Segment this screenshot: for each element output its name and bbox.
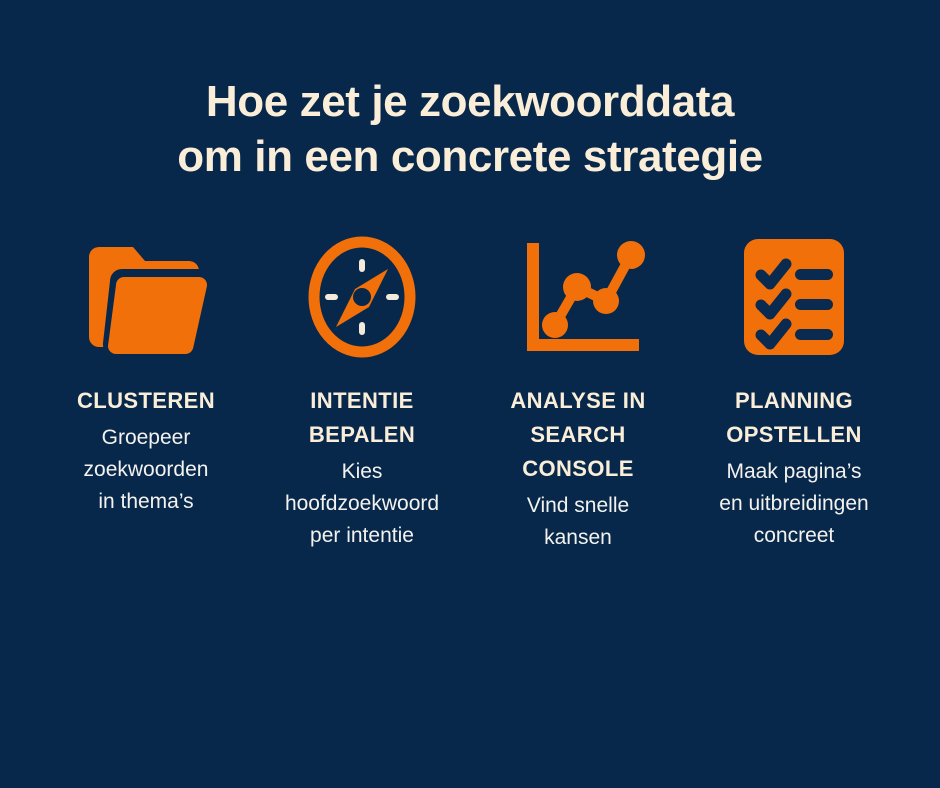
step-body: Maak pagina’s en uitbreidingen concreet bbox=[719, 456, 868, 552]
heading-line: PLANNING bbox=[726, 384, 862, 418]
compass-icon bbox=[306, 232, 418, 362]
step-column-analyse-search-console: ANALYSE IN SEARCH CONSOLE Vind snelle ka… bbox=[470, 232, 686, 554]
title-line-2: om in een concrete strategie bbox=[0, 129, 940, 184]
page-title: Hoe zet je zoekwoorddata om in een concr… bbox=[0, 74, 940, 184]
heading-line: INTENTIE bbox=[309, 384, 415, 418]
heading-line: CLUSTEREN bbox=[77, 384, 215, 418]
body-line: per intentie bbox=[285, 520, 439, 552]
body-line: hoofdzoekwoord bbox=[285, 488, 439, 520]
step-column-planning-opstellen: PLANNING OPSTELLEN Maak pagina’s en uitb… bbox=[686, 232, 902, 552]
step-heading: CLUSTEREN bbox=[77, 384, 215, 418]
folders-icon bbox=[79, 232, 213, 362]
step-heading: PLANNING OPSTELLEN bbox=[726, 384, 862, 452]
heading-line: BEPALEN bbox=[309, 418, 415, 452]
step-heading: ANALYSE IN SEARCH CONSOLE bbox=[510, 384, 645, 486]
body-line: zoekwoorden bbox=[84, 454, 209, 486]
infographic-canvas: Hoe zet je zoekwoorddata om in een concr… bbox=[0, 0, 940, 788]
step-column-clusteren: CLUSTEREN Groepeer zoekwoorden in thema’… bbox=[38, 232, 254, 518]
checklist-icon bbox=[737, 232, 851, 362]
heading-line: CONSOLE bbox=[510, 452, 645, 486]
body-line: in thema’s bbox=[84, 486, 209, 518]
body-line: kansen bbox=[527, 522, 629, 554]
body-line: Kies bbox=[285, 456, 439, 488]
step-body: Vind snelle kansen bbox=[527, 490, 629, 554]
step-body: Groepeer zoekwoorden in thema’s bbox=[84, 422, 209, 518]
title-line-1: Hoe zet je zoekwoorddata bbox=[0, 74, 940, 129]
body-line: en uitbreidingen bbox=[719, 488, 868, 520]
step-column-intentie-bepalen: INTENTIE BEPALEN Kies hoofdzoekwoord per… bbox=[254, 232, 470, 552]
line-chart-icon bbox=[511, 232, 645, 362]
body-line: Vind snelle bbox=[527, 490, 629, 522]
heading-line: OPSTELLEN bbox=[726, 418, 862, 452]
body-line: concreet bbox=[719, 520, 868, 552]
step-heading: INTENTIE BEPALEN bbox=[309, 384, 415, 452]
heading-line: SEARCH bbox=[510, 418, 645, 452]
steps-row: CLUSTEREN Groepeer zoekwoorden in thema’… bbox=[38, 232, 902, 554]
step-body: Kies hoofdzoekwoord per intentie bbox=[285, 456, 439, 552]
body-line: Maak pagina’s bbox=[719, 456, 868, 488]
heading-line: ANALYSE IN bbox=[510, 384, 645, 418]
body-line: Groepeer bbox=[84, 422, 209, 454]
